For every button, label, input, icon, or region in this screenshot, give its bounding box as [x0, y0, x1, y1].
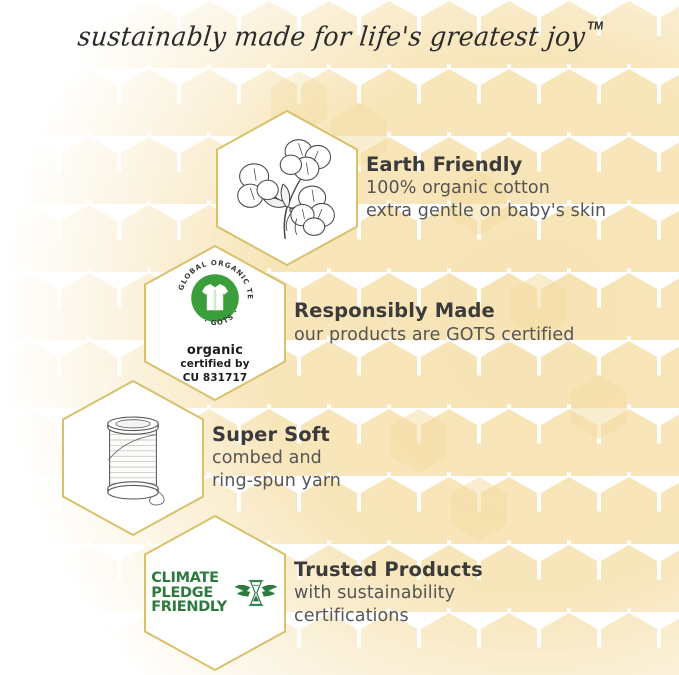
cpf-word-climate: CLIMATE [151, 571, 227, 586]
winged-hourglass-icon [233, 575, 279, 611]
feature-line-2: ring-spun yarn [212, 470, 341, 493]
trademark-symbol: TM [587, 20, 604, 33]
hexagon-frame-trusted-products: CLIMATE PLEDGE FRIENDLY [140, 513, 290, 673]
feature-line-2: extra gentle on baby's skin [366, 200, 606, 223]
feature-copy-responsibly-made: Responsibly Made our products are GOTS c… [290, 299, 574, 347]
feature-line-1: with sustainability [294, 582, 483, 605]
feature-title: Trusted Products [294, 558, 483, 582]
feature-line-2: certifications [294, 605, 483, 628]
feature-line-1: combed and [212, 447, 341, 470]
feature-trusted-products: CLIMATE PLEDGE FRIENDLY [140, 513, 483, 673]
feature-line-1: our products are GOTS certified [294, 324, 574, 347]
headline-text: sustainably made for life's greatest joy [76, 21, 587, 52]
climate-pledge-wordmark: CLIMATE PLEDGE FRIENDLY [151, 571, 227, 615]
cpf-word-pledge: PLEDGE [151, 586, 227, 601]
feature-title: Super Soft [212, 423, 341, 447]
feature-title: Responsibly Made [294, 299, 574, 323]
feature-copy-trusted-products: Trusted Products with sustainability cer… [290, 558, 483, 629]
feature-line-1: 100% organic cotton [366, 177, 606, 200]
gots-seal-icon: GLOBAL ORGANIC TEXTILE STANDARD · GOTS · [174, 257, 256, 339]
page-title: sustainably made for life's greatest joy… [76, 21, 602, 52]
headline-container: sustainably made for life's greatest joy… [0, 22, 679, 51]
climate-pledge-friendly-icon: CLIMATE PLEDGE FRIENDLY [140, 513, 290, 673]
cpf-word-friendly: FRIENDLY [151, 600, 227, 615]
feature-copy-earth-friendly: Earth Friendly 100% organic cotton extra… [362, 153, 606, 224]
feature-copy-super-soft: Super Soft combed and ring-spun yarn [208, 423, 341, 494]
feature-title: Earth Friendly [366, 153, 606, 177]
gots-caption: organic [187, 343, 243, 358]
gots-certified-by-label: certified by [180, 358, 249, 372]
